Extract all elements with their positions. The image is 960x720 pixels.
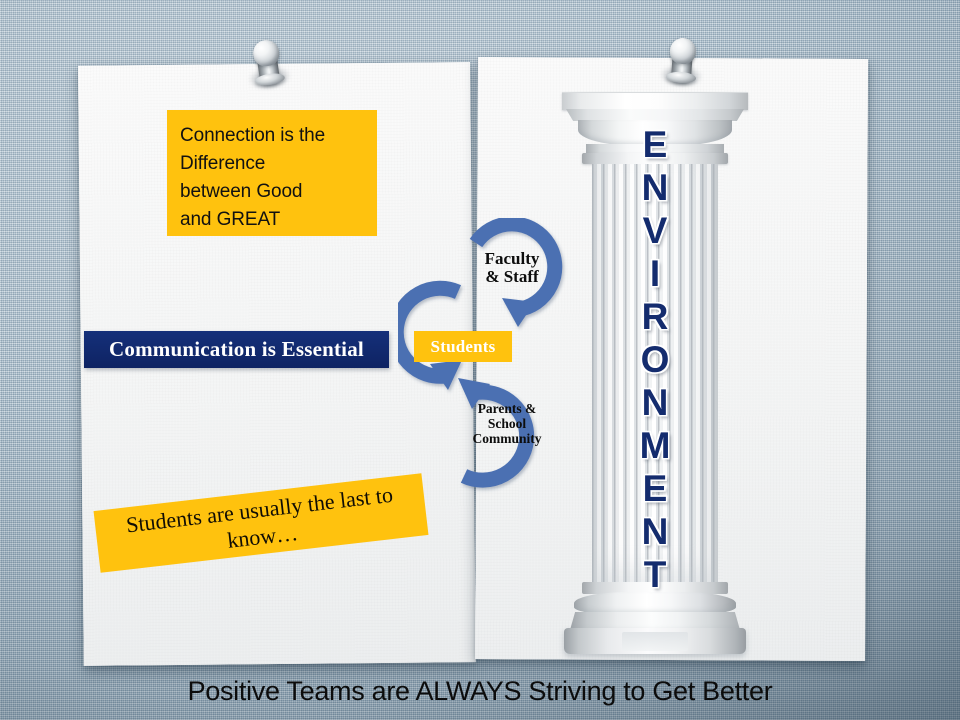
cycle-label-parents-line-3: Community — [446, 431, 568, 446]
cycle-label-parents: Parents & School Community — [446, 401, 568, 446]
slide-caption: Positive Teams are ALWAYS Striving to Ge… — [0, 676, 960, 707]
environment-letter-11: T — [644, 558, 667, 592]
environment-letter-2: N — [642, 171, 669, 205]
environment-letter-3: V — [643, 214, 668, 248]
cycle-label-faculty-line-1: Faculty — [460, 250, 564, 268]
environment-letter-8: M — [640, 429, 671, 463]
environment-letter-10: N — [642, 515, 669, 549]
sticky-note-connection-line-2: Difference — [180, 150, 365, 178]
environment-letter-1: E — [643, 128, 668, 162]
cycle-label-faculty-line-2: & Staff — [460, 268, 564, 286]
column-environment-graphic: E N V I R O N M E N T — [560, 92, 750, 632]
cycle-label-students: Students — [431, 337, 496, 357]
environment-letter-5: R — [642, 300, 669, 334]
column-abacus — [562, 92, 748, 110]
environment-letter-9: E — [643, 472, 668, 506]
environment-letter-7: N — [642, 386, 669, 420]
banner-communication-label: Communication is Essential — [109, 337, 364, 362]
pushpin-head — [669, 37, 697, 65]
sticky-note-connection-line-3: between Good — [180, 178, 365, 206]
sticky-note-connection-line-4: and GREAT — [180, 206, 365, 234]
slide-canvas: Connection is the Difference between Goo… — [0, 0, 960, 720]
cycle-node-students: Students — [414, 331, 512, 362]
cycle-diagram: Faculty & Staff Students Parents & Schoo… — [398, 218, 584, 500]
sticky-note-connection-line-1: Connection is the — [180, 122, 365, 150]
pushpin-right-icon — [658, 35, 706, 94]
cycle-label-faculty: Faculty & Staff — [460, 250, 564, 287]
environment-letter-4: I — [650, 257, 660, 291]
cycle-label-parents-line-1: Parents & — [446, 401, 568, 416]
pushpin-left-icon — [242, 35, 293, 97]
environment-letter-6: O — [641, 343, 670, 377]
banner-communication-is-essential: Communication is Essential — [84, 331, 389, 368]
column-plinth-inset — [622, 632, 688, 651]
cycle-label-parents-line-2: School — [446, 416, 568, 431]
environment-word: E N V I R O N M E N T — [560, 128, 750, 601]
sticky-note-connection: Connection is the Difference between Goo… — [167, 110, 377, 236]
